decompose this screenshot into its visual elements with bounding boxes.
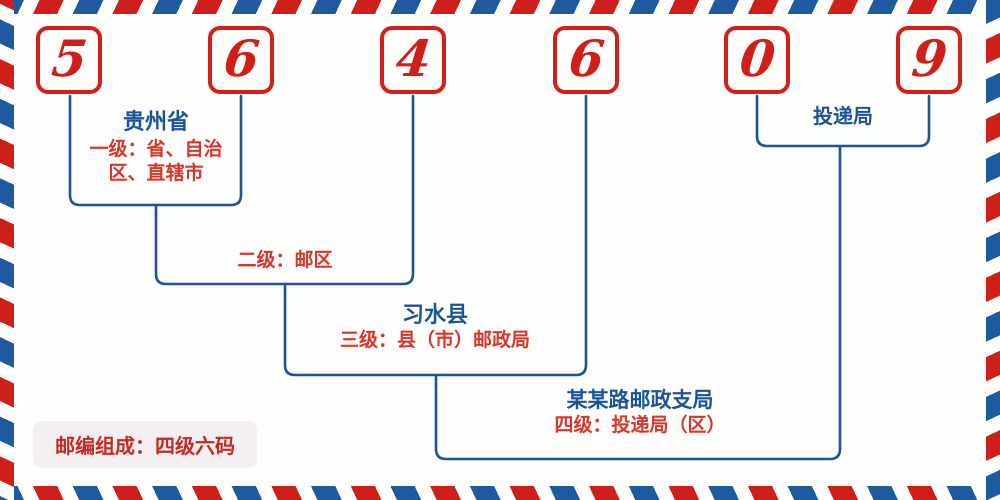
- digit-glyph: 6: [221, 34, 261, 84]
- level-3-place-name: 习水县: [295, 303, 575, 328]
- label-group-delivery-office: 投递局: [768, 105, 918, 127]
- postcode-digit-1[interactable]: 5: [36, 26, 102, 94]
- label-group-level-2: 二级：邮区: [190, 250, 380, 271]
- postcode-digit-6[interactable]: 9: [896, 26, 962, 94]
- label-group-level-3: 习水县 三级：县（市）邮政局: [295, 303, 575, 351]
- digit-glyph: 4: [393, 34, 433, 84]
- label-group-level-1: 贵州省 一级：省、自治区、直辖市: [76, 110, 236, 185]
- postcode-digit-2[interactable]: 6: [208, 26, 274, 94]
- postcode-digit-5[interactable]: 0: [724, 26, 790, 94]
- digit-glyph: 0: [737, 34, 777, 84]
- postcode-diagram: 5 6 4 6 0 9 贵州省 一级：省、自治区、直辖市 二级：邮区 习水县 三…: [0, 0, 1000, 500]
- level-3-level-text: 三级：县（市）邮政局: [295, 330, 575, 351]
- level-2-level-text: 二级：邮区: [190, 250, 380, 271]
- label-group-level-4: 某某路邮政支局 四级：投递局（区）: [455, 388, 825, 436]
- digit-glyph: 9: [909, 34, 949, 84]
- delivery-office-label: 投递局: [768, 105, 918, 127]
- postcode-composition-badge: 邮编组成：四级六码: [33, 421, 257, 468]
- level-4-level-text: 四级：投递局（区）: [455, 415, 825, 436]
- level-1-place-name: 贵州省: [76, 110, 236, 135]
- digit-glyph: 5: [49, 34, 89, 84]
- level-1-level-text: 一级：省、自治区、直辖市: [76, 137, 236, 186]
- digit-glyph: 6: [566, 34, 606, 84]
- postcode-digit-3[interactable]: 4: [380, 26, 446, 94]
- postcode-digit-4[interactable]: 6: [553, 26, 619, 94]
- level-4-place-name: 某某路邮政支局: [455, 388, 825, 412]
